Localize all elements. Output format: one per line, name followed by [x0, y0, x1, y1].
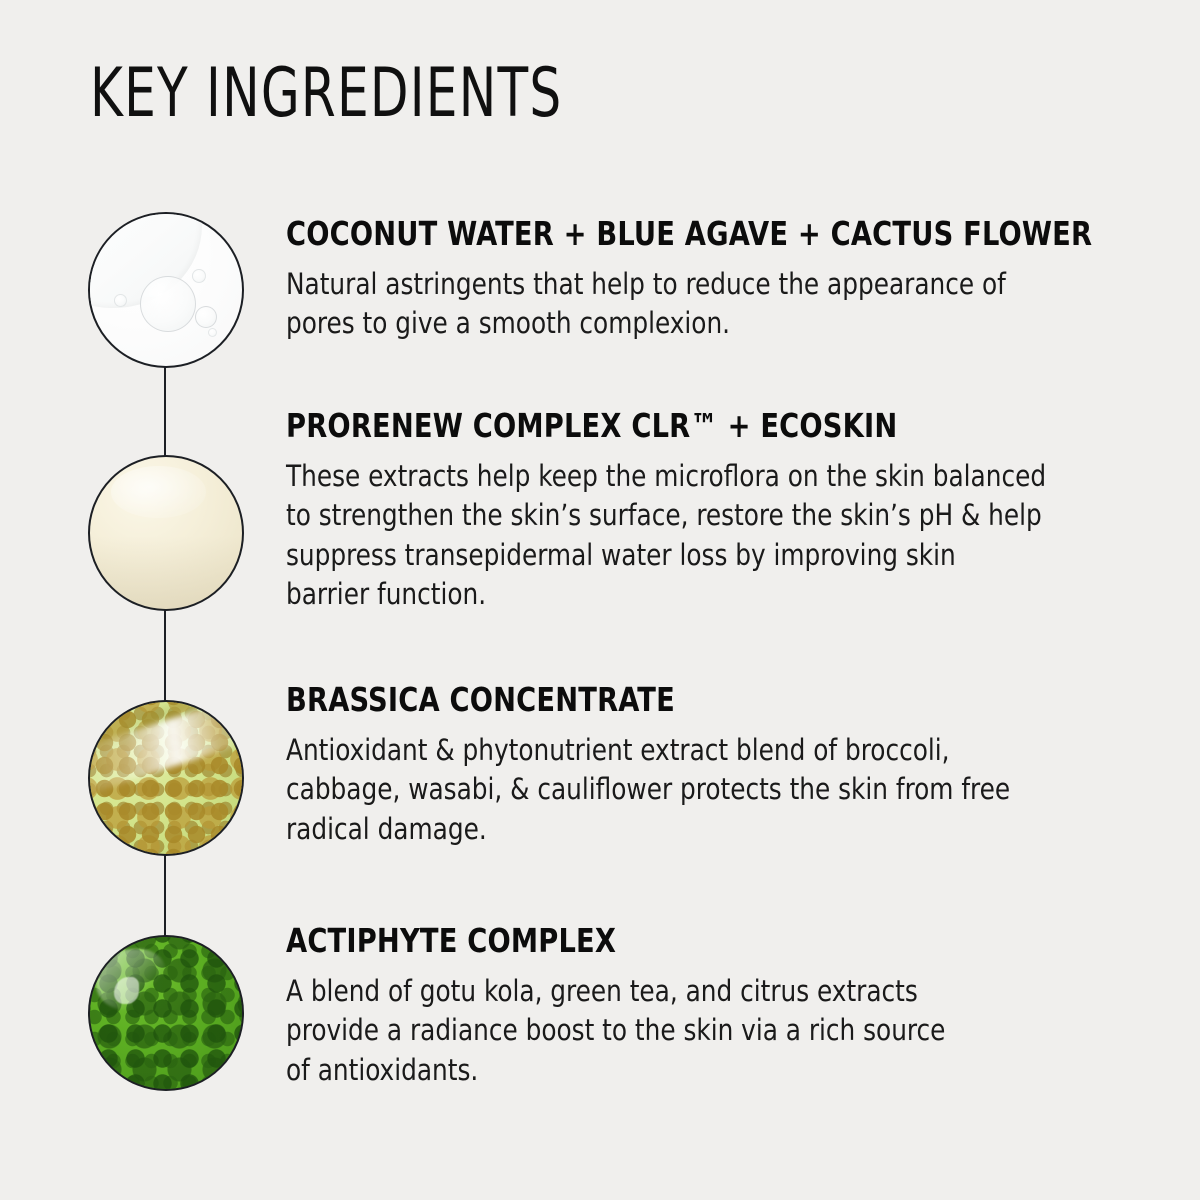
- gel-highlight-spot: [114, 977, 138, 1004]
- swatch-clear-water-gel: [88, 212, 244, 368]
- timeline-connector-line: [164, 290, 166, 1030]
- ingredient-text-block: ACTIPHYTE COMPLEX A blend of gotu kola, …: [286, 923, 1126, 1090]
- ingredient-description: Natural astringents that help to reduce …: [286, 265, 1084, 344]
- key-ingredients-page: KEY INGREDIENTS COCONUT WATER + BLUE AGA…: [0, 0, 1200, 1200]
- ingredient-title: PRORENEW COMPLEX CLR™ + ECOSKIN: [286, 408, 1059, 445]
- bubble-icon: [114, 294, 127, 307]
- description-line: suppress transepidermal water loss by im…: [286, 536, 1084, 575]
- clear-water-gel-swatch: [88, 212, 244, 368]
- ingredient-text-block: COCONUT WATER + BLUE AGAVE + CACTUS FLOW…: [286, 216, 1126, 344]
- description-line: radical damage.: [286, 810, 1084, 849]
- ingredient-title: COCONUT WATER + BLUE AGAVE + CACTUS FLOW…: [286, 216, 1059, 253]
- gloss-highlight: [111, 466, 205, 518]
- ingredient-title: ACTIPHYTE COMPLEX: [286, 923, 1059, 960]
- description-line: barrier function.: [286, 575, 1084, 614]
- description-line: cabbage, wasabi, & cauliflower protects …: [286, 770, 1084, 809]
- ingredient-title: BRASSICA CONCENTRATE: [286, 682, 1059, 719]
- cream-swatch: [88, 455, 244, 611]
- ingredient-text-block: BRASSICA CONCENTRATE Antioxidant & phyto…: [286, 682, 1126, 849]
- ingredient-description: Antioxidant & phytonutrient extract blen…: [286, 731, 1084, 849]
- description-line: to strengthen the skin’s surface, restor…: [286, 496, 1084, 535]
- swatch-lime-speckled: [88, 700, 244, 856]
- bubble-icon: [140, 276, 196, 332]
- description-line: A blend of gotu kola, green tea, and cit…: [286, 972, 1084, 1011]
- ingredient-description: These extracts help keep the microflora …: [286, 457, 1084, 615]
- description-line: pores to give a smooth complexion.: [286, 304, 1084, 343]
- description-line: Natural astringents that help to reduce …: [286, 265, 1084, 304]
- description-line: These extracts help keep the microflora …: [286, 457, 1084, 496]
- page-title: KEY INGREDIENTS: [90, 60, 562, 128]
- lime-speckled-swatch: [88, 700, 244, 856]
- bubble-icon: [192, 269, 206, 283]
- swatch-cream: [88, 455, 244, 611]
- description-line: of antioxidants.: [286, 1051, 1084, 1090]
- description-line: Antioxidant & phytonutrient extract blen…: [286, 731, 1084, 770]
- ingredient-text-block: PRORENEW COMPLEX CLR™ + ECOSKIN These ex…: [286, 408, 1126, 615]
- bottom-shading: [90, 536, 242, 609]
- bubble-icon: [208, 328, 217, 337]
- swatch-green-gel: [88, 935, 244, 1091]
- ingredient-description: A blend of gotu kola, green tea, and cit…: [286, 972, 1084, 1090]
- green-gel-swatch: [88, 935, 244, 1091]
- bubble-icon: [195, 306, 217, 328]
- description-line: provide a radiance boost to the skin via…: [286, 1011, 1084, 1050]
